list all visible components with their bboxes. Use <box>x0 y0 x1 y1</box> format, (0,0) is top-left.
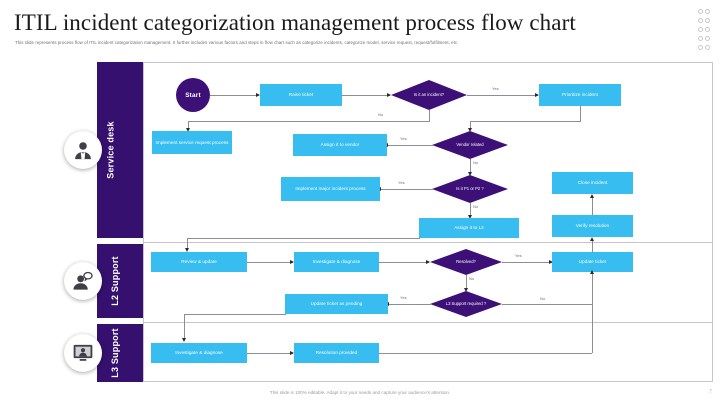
edge-prioritize-v1 <box>580 106 581 121</box>
node-investigate-diagnose-l3[interactable]: Investigate & diagnose <box>151 343 247 363</box>
dot-icon <box>698 27 703 32</box>
node-update-ticket[interactable]: Update ticket <box>552 252 633 272</box>
edge-verify-close <box>592 196 593 215</box>
arrow-icon <box>590 237 594 241</box>
decision-vendor-related[interactable]: Vendor related <box>432 131 508 159</box>
edge-label-vendor-no: No <box>473 160 478 165</box>
decision-resolved[interactable]: Resolved? <box>430 249 502 275</box>
edge-resolution-v <box>592 304 593 353</box>
swimlane-label-l3-support: L3 Support <box>109 328 119 378</box>
person-chat-icon <box>64 262 102 300</box>
swimlane-l2-support: L2 Support <box>97 244 143 318</box>
page-subtitle: This slide represents process flow of IT… <box>15 40 640 46</box>
edge-investigate-resolution <box>247 353 293 354</box>
edge-raise-isincident <box>342 95 390 96</box>
edge-isincident-yes <box>467 95 538 96</box>
node-investigate-diagnose-l2[interactable]: Investigate & diagnose <box>294 252 379 272</box>
dot-icon <box>705 27 710 32</box>
swimlane-service-desk: Service desk <box>97 62 143 238</box>
edge-pending-h <box>184 314 286 315</box>
decision-l3-required[interactable]: L3 Support required ? <box>430 291 502 317</box>
decision-label: Resolved? <box>450 259 482 264</box>
edge-isincident-no-v1 <box>429 110 430 121</box>
node-raise-ticket[interactable]: Raise ticket <box>260 84 342 106</box>
edge-label-l3-yes: Yes <box>400 295 407 300</box>
node-assign-to-vendor[interactable]: Assign it to vendor <box>293 134 387 156</box>
lane-divider-l2 <box>143 242 713 243</box>
edge-label-resolved-no: No <box>469 276 474 281</box>
edge-start-raise <box>210 95 259 96</box>
footer-note: This slide is 100% editable. Adapt it to… <box>0 390 720 395</box>
swimlane-l3-support: L3 Support <box>97 324 143 382</box>
decision-label: Vendor related <box>450 142 489 147</box>
node-implement-service-request[interactable]: Implement service request process <box>152 131 232 154</box>
swimlane-label-service-desk: Service desk <box>105 121 115 178</box>
page-title: ITIL incident categorization management … <box>14 10 654 36</box>
node-resolution-provided[interactable]: Resolution provided <box>294 343 379 363</box>
dot-icon <box>705 9 710 14</box>
dot-grid-decoration <box>698 9 712 54</box>
edge-l3-no-v <box>592 272 593 304</box>
dot-icon <box>705 36 710 41</box>
swimlane-label-l2-support: L2 Support <box>109 256 119 306</box>
decision-label: Is it an incident? <box>408 92 450 97</box>
node-start[interactable]: Start <box>176 78 210 112</box>
edge-resolved-yes <box>502 262 552 263</box>
arrow-icon <box>590 270 594 274</box>
edge-review-investigate <box>247 262 293 263</box>
edge-label-incident-no: No <box>378 112 383 117</box>
edge-l3-yes <box>388 304 431 305</box>
decision-is-incident[interactable]: Is it an incident? <box>391 80 467 110</box>
edge-pending-v <box>184 314 185 340</box>
slide: ITIL incident categorization management … <box>0 0 720 404</box>
dot-icon <box>705 45 710 50</box>
node-assign-to-l2[interactable]: Assign it to L2 <box>419 218 519 238</box>
edge-label-p1p2-yes: Yes <box>398 180 405 185</box>
node-close-incident[interactable]: Close incident <box>552 172 633 194</box>
dot-icon <box>698 9 703 14</box>
node-review-update[interactable]: Review & update <box>151 252 247 272</box>
edge-label-l3-no: No <box>540 296 545 301</box>
person-icon <box>64 131 102 169</box>
dot-icon <box>698 45 703 50</box>
page-number: 7 <box>709 389 712 395</box>
node-implement-major-incident[interactable]: Implement major incident process <box>281 177 380 201</box>
node-prioritize-incident[interactable]: Prioritize incident <box>539 84 621 106</box>
node-update-ticket-pending[interactable]: Update ticket as pending <box>285 294 388 314</box>
dot-icon <box>698 36 703 41</box>
edge-l3-no-h <box>502 304 592 305</box>
edge-prioritize-h <box>470 121 581 122</box>
edge-investigate-resolved <box>379 262 429 263</box>
arrow-icon <box>590 194 594 198</box>
edge-isincident-no-h <box>188 121 430 122</box>
node-verify-resolution[interactable]: Verify resolution <box>552 215 633 237</box>
edge-resolution-h <box>379 353 592 354</box>
dot-icon <box>705 18 710 23</box>
arrow-icon <box>182 338 186 342</box>
dot-icon <box>698 18 703 23</box>
edge-label-resolved-yes: Yes <box>515 253 522 258</box>
lane-divider-l3 <box>143 322 713 323</box>
decision-p1-p2[interactable]: Is it P1 or P2 ? <box>432 175 508 203</box>
edge-p1p2-yes <box>380 189 433 190</box>
edge-label-p1p2-no: No <box>473 204 478 209</box>
edge-label-incident-yes: Yes <box>492 86 499 91</box>
monitor-person-icon <box>64 334 102 372</box>
decision-label: Is it P1 or P2 ? <box>450 186 489 191</box>
edge-label-vendor-yes: Yes <box>400 136 407 141</box>
edge-assignl2-h <box>187 238 420 239</box>
edge-vendor-yes <box>387 145 433 146</box>
decision-label: L3 Support required ? <box>440 301 493 306</box>
